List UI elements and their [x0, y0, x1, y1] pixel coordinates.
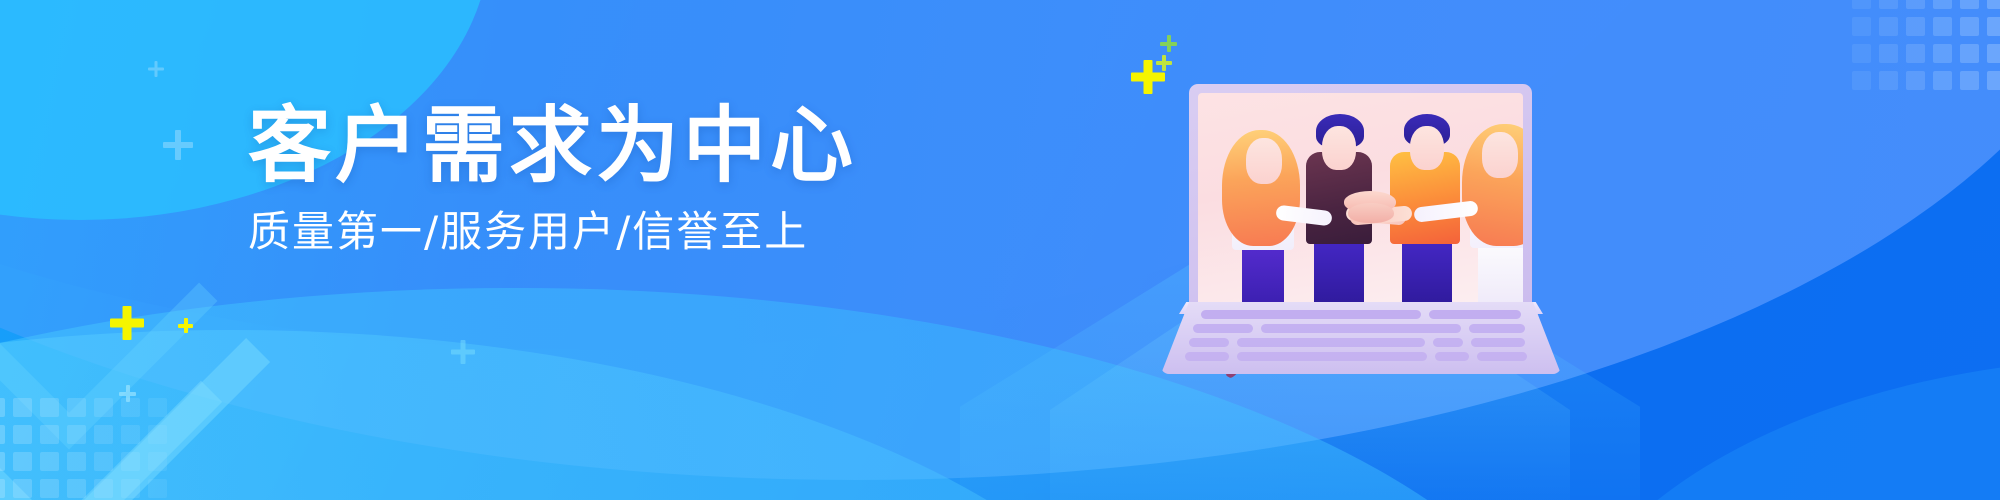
grid-dot: [1906, 17, 1925, 36]
grid-dot: [148, 425, 167, 444]
laptop-lid: [1189, 84, 1532, 306]
laptop-keyboard-base: [1161, 302, 1561, 374]
plus-yellow-right-of-laptop-icon: [1156, 55, 1172, 71]
grid-dot: [1906, 71, 1925, 90]
plus-cyan-bottom-left-icon: [119, 385, 136, 402]
grid-dot: [148, 479, 167, 498]
grid-dot: [1879, 44, 1898, 63]
grid-dot: [1987, 44, 2000, 63]
dot-grid-bottom-left: [0, 398, 166, 500]
stacked-hands-lower: [1348, 203, 1394, 223]
plus-yellow-small-bottom-left-icon: [178, 318, 193, 333]
grid-dot: [1960, 44, 1979, 63]
grid-dot: [121, 425, 140, 444]
grid-dot: [94, 398, 113, 417]
grid-dot: [1852, 17, 1871, 36]
grid-dot: [0, 398, 5, 417]
person-woman-right: [1456, 112, 1523, 306]
grid-dot: [13, 479, 32, 498]
grid-dot: [121, 452, 140, 471]
page-title: 客户需求为中心: [248, 104, 808, 187]
grid-dot: [1987, 71, 2000, 90]
grid-dot: [1960, 0, 1979, 9]
plus-cyan-left-lower-icon: [163, 130, 193, 160]
plus-cyan-small-left-upper-icon: [148, 61, 164, 77]
keyboard-key: [1261, 324, 1461, 333]
grid-dot: [0, 452, 5, 471]
grid-dot: [13, 452, 32, 471]
grid-dot: [40, 452, 59, 471]
grid-dot: [1987, 17, 2000, 36]
keyboard-key: [1429, 310, 1521, 319]
grid-dot: [1906, 0, 1925, 9]
plus-yellow-bottom-left-icon: [110, 306, 144, 340]
grid-dot: [1852, 71, 1871, 90]
grid-dot: [94, 452, 113, 471]
grid-dot: [13, 425, 32, 444]
grid-dot: [13, 398, 32, 417]
grid-dot: [67, 479, 86, 498]
keyboard-key: [1471, 338, 1525, 347]
keyboard-key: [1237, 338, 1425, 347]
grid-dot: [1933, 17, 1952, 36]
banner-subtitle: 质量第一/服务用户/信誉至上: [248, 211, 808, 253]
grid-dot: [67, 425, 86, 444]
background-wave-right-arc: [1540, 358, 2000, 500]
grid-dot: [1987, 0, 2000, 9]
laptop-illustration: [1189, 84, 1564, 374]
plus-green-near-laptop-icon: [1160, 35, 1177, 52]
grid-dot: [1933, 44, 1952, 63]
grid-dot: [40, 398, 59, 417]
grid-dot: [94, 479, 113, 498]
keyboard-key: [1469, 324, 1525, 333]
keyboard-key: [1201, 310, 1421, 319]
grid-dot: [148, 398, 167, 417]
grid-dot: [148, 452, 167, 471]
keyboard-key: [1435, 352, 1469, 361]
grid-dot: [1852, 0, 1871, 9]
banner-copy: 客户需求为中心 质量第一/服务用户/信誉至上: [248, 104, 808, 253]
grid-dot: [1933, 71, 1952, 90]
grid-dot: [1960, 71, 1979, 90]
grid-dot: [1879, 71, 1898, 90]
grid-dot: [0, 425, 5, 444]
plus-cyan-center-bottom-icon: [451, 340, 475, 364]
grid-dot: [94, 425, 113, 444]
grid-dot: [0, 479, 5, 498]
dot-grid-top-right: [1852, 0, 2000, 110]
grid-dot: [67, 452, 86, 471]
grid-dot: [1879, 0, 1898, 9]
grid-dot: [121, 479, 140, 498]
grid-dot: [1933, 0, 1952, 9]
promo-banner: 客户需求为中心 质量第一/服务用户/信誉至上: [0, 0, 2000, 500]
keyboard-key: [1237, 352, 1427, 361]
keyboard-key: [1185, 352, 1229, 361]
grid-dot: [1960, 17, 1979, 36]
keyboard-key: [1189, 338, 1229, 347]
grid-dot: [67, 398, 86, 417]
grid-dot: [1852, 44, 1871, 63]
grid-dot: [40, 479, 59, 498]
keyboard-key: [1433, 338, 1463, 347]
grid-dot: [40, 425, 59, 444]
laptop-screen: [1198, 93, 1523, 306]
keyboard-key: [1193, 324, 1253, 333]
grid-dot: [1879, 17, 1898, 36]
keyboard-key: [1477, 352, 1527, 361]
grid-dot: [1906, 44, 1925, 63]
